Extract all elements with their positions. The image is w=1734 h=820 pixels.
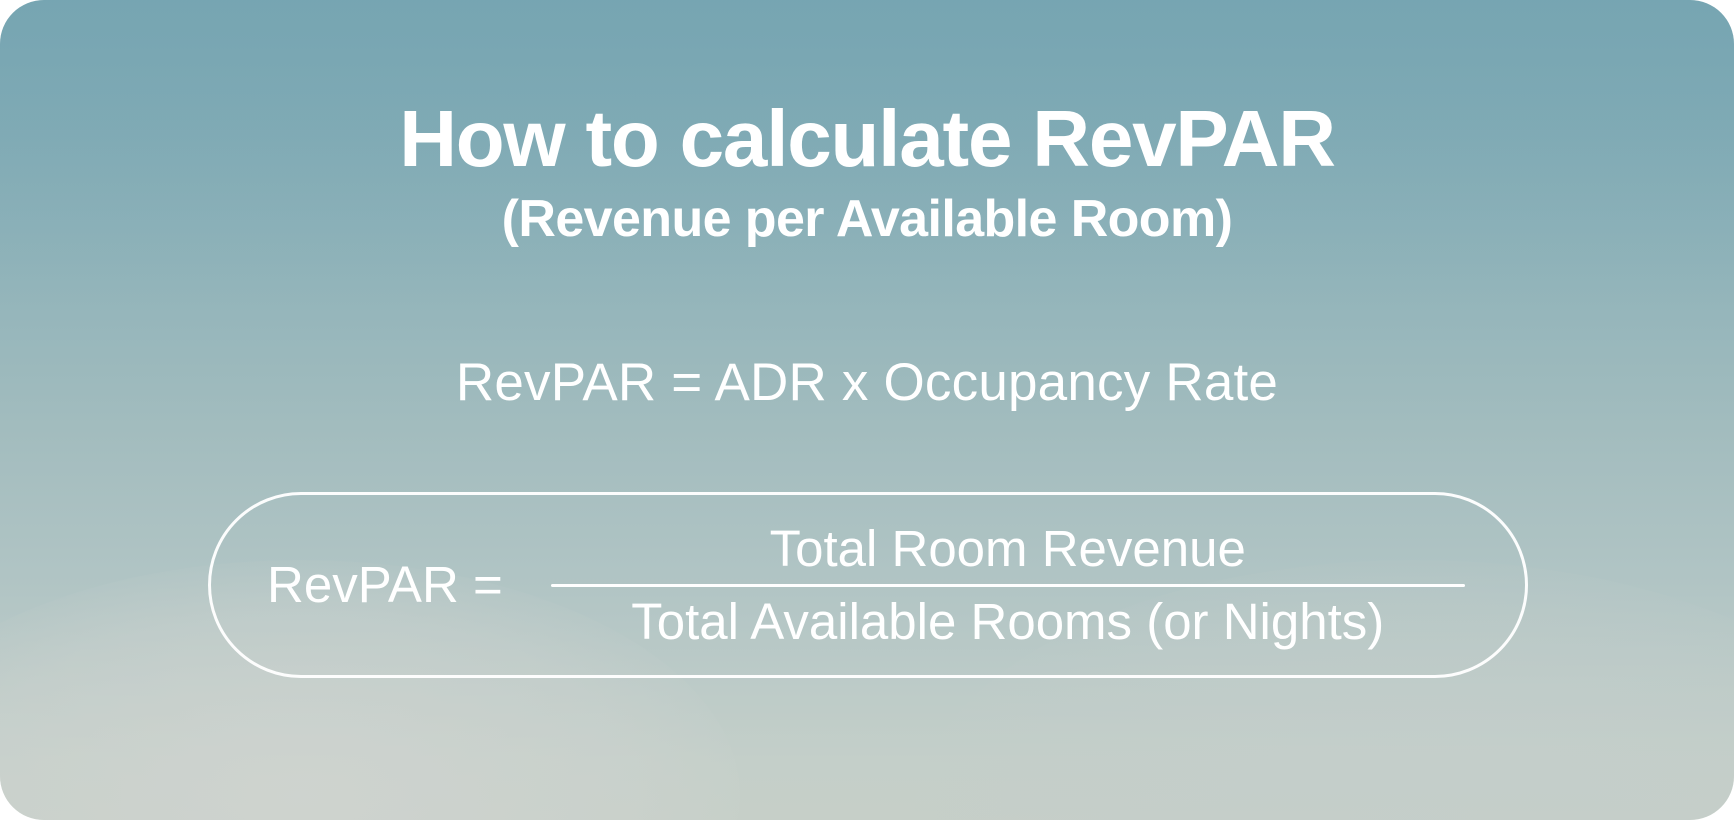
simple-formula-text: RevPAR = ADR x Occupancy Rate (0, 352, 1734, 414)
fraction-formula-lhs: RevPAR = (211, 557, 533, 613)
page-subtitle: (Revenue per Available Room) (0, 190, 1734, 248)
fraction: Total Room Revenue Total Available Rooms… (551, 520, 1465, 651)
revpar-formula-card: How to calculate RevPAR (Revenue per Ava… (0, 0, 1734, 820)
page-title: How to calculate RevPAR (0, 96, 1734, 182)
card-content: How to calculate RevPAR (Revenue per Ava… (0, 0, 1734, 820)
fraction-formula-box: RevPAR = Total Room Revenue Total Availa… (208, 492, 1528, 678)
fraction-numerator: Total Room Revenue (770, 520, 1246, 584)
fraction-denominator: Total Available Rooms (or Nights) (631, 587, 1384, 651)
